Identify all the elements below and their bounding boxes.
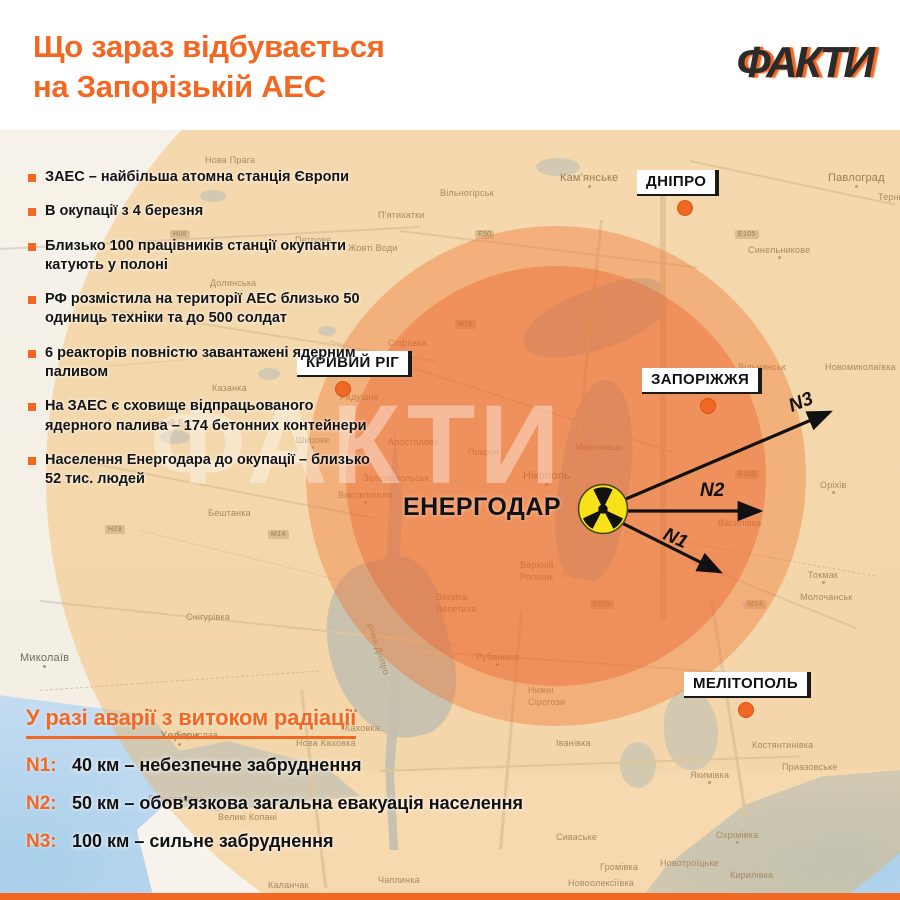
brand-logo[interactable]: ФАКТИ [736, 36, 872, 90]
legend-key-n1: N1: [26, 755, 72, 777]
legend-row-n3: N3: 100 км – сильне забруднення [26, 831, 666, 853]
list-item: ЗАЕС – найбільша атомна станція Європи [28, 168, 378, 187]
page-title-line1: Що зараз відбувається [33, 29, 385, 64]
legend-value-n3: 100 км – сильне забруднення [72, 831, 334, 852]
legend-key-n2: N2: [26, 793, 72, 815]
list-item: Населення Енергодара до окупації – близь… [28, 451, 378, 490]
bullet-square-icon [28, 350, 36, 358]
bullet-square-icon [28, 457, 36, 465]
legend-key-n3: N3: [26, 831, 72, 853]
list-item-text: На ЗАЕС є сховище відпрацьованого ядерно… [45, 397, 378, 436]
list-item-text: РФ розмістила на території АЕС близько 5… [45, 290, 378, 329]
facts-list: ЗАЕС – найбільша атомна станція Європи В… [28, 168, 378, 504]
list-item: В окупації з 4 березня [28, 202, 378, 221]
list-item: Близько 100 працівників станції окупанти… [28, 237, 378, 276]
radiation-icon [577, 483, 629, 535]
legend: У разі аварії з витоком радіації N1: 40 … [26, 705, 666, 853]
arrow-label-n2: N2 [700, 480, 724, 502]
brand-logo-text: ФАКТИ [736, 38, 872, 88]
page-title-line2: на Запорізькій АЕС [33, 67, 593, 107]
legend-title: У разі аварії з витоком радіації [26, 705, 356, 739]
list-item-text: ЗАЕС – найбільша атомна станція Європи [45, 168, 349, 187]
list-item: На ЗАЕС є сховище відпрацьованого ядерно… [28, 397, 378, 436]
bullet-square-icon [28, 403, 36, 411]
legend-value-n1: 40 км – небезпечне забруднення [72, 755, 362, 776]
list-item: РФ розмістила на території АЕС близько 5… [28, 290, 378, 329]
bullet-square-icon [28, 296, 36, 304]
bottom-accent-bar [0, 893, 900, 900]
list-item: 6 реакторів повністю завантажені ядерним… [28, 344, 378, 383]
legend-value-n2: 50 км – обов'язкова загальна евакуація н… [72, 793, 523, 814]
bullet-square-icon [28, 174, 36, 182]
legend-row-n1: N1: 40 км – небезпечне забруднення [26, 755, 666, 777]
header: Що зараз відбувається на Запорізькій АЕС… [0, 0, 900, 130]
bullet-square-icon [28, 243, 36, 251]
legend-row-n2: N2: 50 км – обов'язкова загальна евакуац… [26, 793, 666, 815]
page-title: Що зараз відбувається на Запорізькій АЕС [33, 27, 593, 106]
list-item-text: Близько 100 працівників станції окупанти… [45, 237, 378, 276]
infographic-root: E50 M18 E105 E105 M14 E105 M14 H08 H23 Н… [0, 0, 900, 900]
bullet-square-icon [28, 208, 36, 216]
list-item-text: В окупації з 4 березня [45, 202, 203, 221]
energodar-label: ЕНЕРГОДАР [403, 493, 561, 522]
list-item-text: Населення Енергодара до окупації – близь… [45, 451, 378, 490]
list-item-text: 6 реакторів повністю завантажені ядерним… [45, 344, 378, 383]
